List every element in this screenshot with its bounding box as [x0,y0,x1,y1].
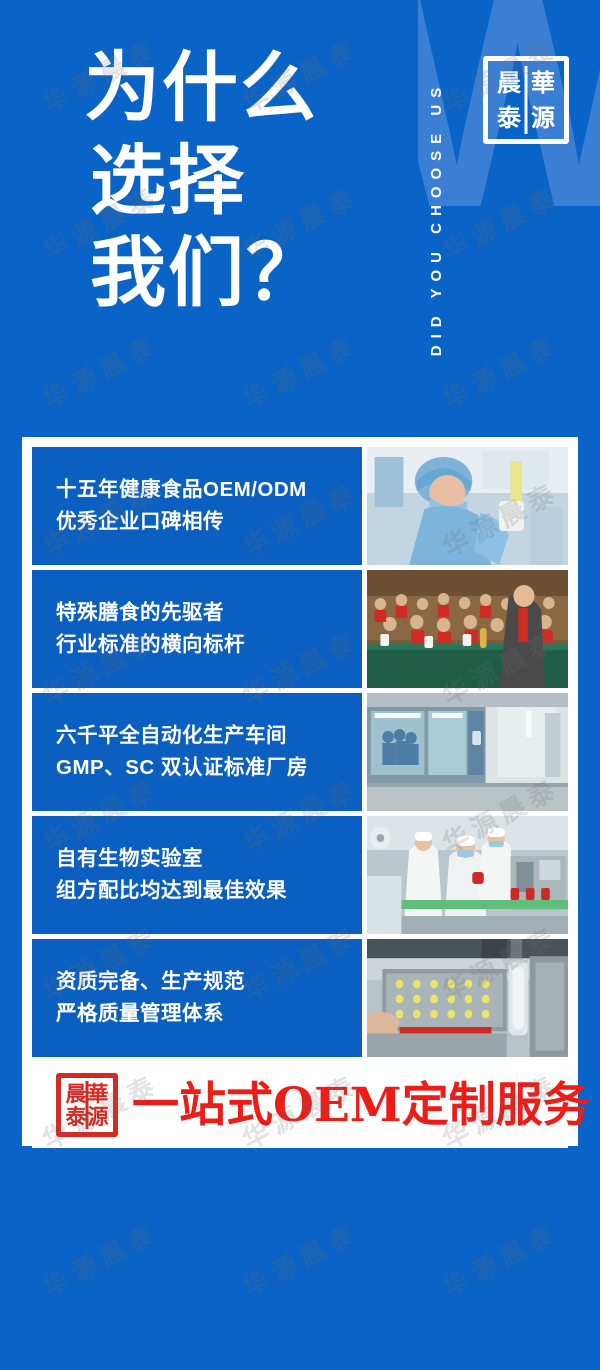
watermark-text: 华源晨泰 [177,1146,423,1370]
feature-image-clean-room [367,693,568,811]
seal-char-chen: 晨 [492,65,526,100]
feature-card-text: 资质完备、生产规范 严格质量管理体系 [32,939,362,1057]
company-seal-logo: 華 源 晨 泰 [483,56,569,144]
feature-card[interactable]: 资质完备、生产规范 严格质量管理体系 [32,939,568,1057]
feature-line-1: 特殊膳食的先驱者 [56,597,362,629]
feature-image-packaging-line [367,816,568,934]
feature-card[interactable]: 自有生物实验室 组方配比均达到最佳效果 [32,816,568,934]
feature-line-2: 优秀企业口碑相传 [56,506,362,538]
seal-char-hua: 華 [526,65,560,100]
feature-image-conference-audience [367,570,568,688]
title-line-3: 我们？ [84,227,324,320]
seal-char-tai: 泰 [65,1105,87,1128]
feature-line-2: 严格质量管理体系 [56,998,362,1030]
seal-char-yuan: 源 [87,1105,109,1128]
feature-line-1: 资质完备、生产规范 [56,966,362,998]
title-line-1: 为什么 [84,42,324,135]
feature-card-text: 特殊膳食的先驱者 行业标准的横向标杆 [32,570,362,688]
company-seal-logo-red: 華 源 晨 泰 [56,1073,118,1137]
watermark-text: 华源晨泰 [377,1146,600,1370]
features-panel: 十五年健康食品OEM/ODM 优秀企业口碑相传 [22,437,578,1146]
page-title: 为什么 选择 我们？ [84,42,324,320]
feature-image-lab-technician [367,447,568,565]
seal-char-chen: 晨 [65,1082,87,1105]
feature-line-1: 六千平全自动化生产车间 [56,720,362,752]
feature-card-text: 自有生物实验室 组方配比均达到最佳效果 [32,816,362,934]
feature-line-2: GMP、SC 双认证标准厂房 [56,752,362,784]
feature-card-text: 十五年健康食品OEM/ODM 优秀企业口碑相传 [32,447,362,565]
bottom-slogan-bar: 華 源 晨 泰 一站式OEM定制服务 [32,1062,568,1148]
feature-image-blister-packing [367,939,568,1057]
feature-card[interactable]: 十五年健康食品OEM/ODM 优秀企业口碑相传 [32,447,568,565]
watermark-text: 华源晨泰 [0,1146,223,1370]
seal-char-hua: 華 [87,1082,109,1105]
title-line-2: 选择 [84,135,324,228]
seal-char-tai: 泰 [492,100,526,135]
hero-section: WHY DID YOU CHOOSE US 華 源 晨 泰 为什么 选择 我们？ [0,0,600,437]
seal-char-yuan: 源 [526,100,560,135]
feature-line-2: 行业标准的横向标杆 [56,629,362,661]
feature-card-text: 六千平全自动化生产车间 GMP、SC 双认证标准厂房 [32,693,362,811]
feature-line-1: 十五年健康食品OEM/ODM [56,474,362,506]
feature-line-2: 组方配比均达到最佳效果 [56,875,362,907]
feature-card[interactable]: 特殊膳食的先驱者 行业标准的横向标杆 [32,570,568,688]
feature-card[interactable]: 六千平全自动化生产车间 GMP、SC 双认证标准厂房 [32,693,568,811]
feature-line-1: 自有生物实验室 [56,843,362,875]
bottom-slogan-text: 一站式OEM定制服务 [132,1082,590,1129]
vertical-tagline: DID YOU CHOOSE US [418,0,454,437]
